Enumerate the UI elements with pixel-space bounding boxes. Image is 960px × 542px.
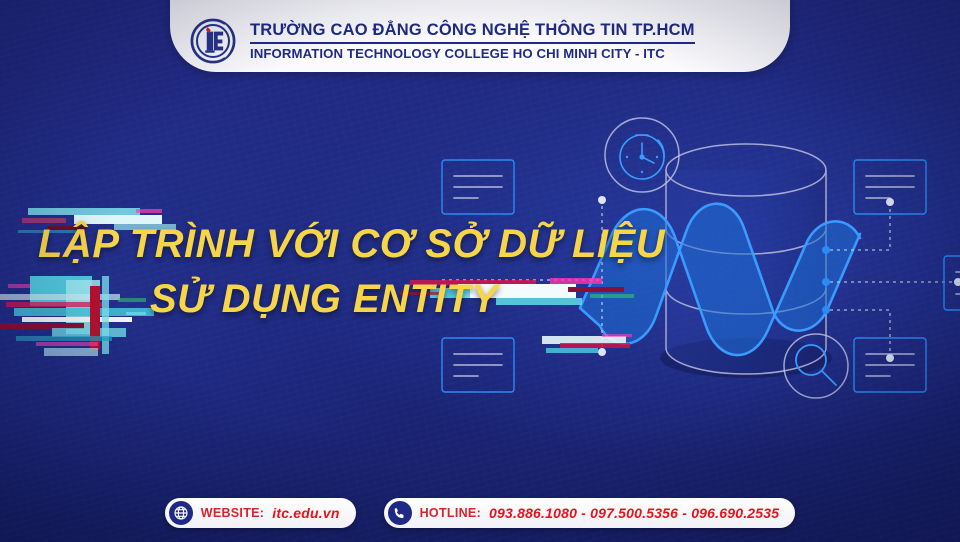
- header-title-vi: TRƯỜNG CAO ĐẲNG CÔNG NGHỆ THÔNG TIN TP.H…: [250, 21, 695, 40]
- document-card: [442, 160, 514, 214]
- title-line-2: SỬ DỤNG ENTITY: [0, 277, 700, 322]
- contact-footer: WEBSITE: itc.edu.vn HOTLINE: 093.886.108…: [0, 498, 960, 528]
- institution-header: TRƯỜNG CAO ĐẲNG CÔNG NGHỆ THÔNG TIN TP.H…: [170, 0, 790, 72]
- header-divider: [250, 42, 695, 44]
- phone-icon: [388, 501, 412, 525]
- slide-canvas: LẬP TRÌNH VỚI CƠ SỞ DỮ LIỆU SỬ DỤNG ENTI…: [0, 0, 960, 542]
- document-card: [854, 338, 926, 392]
- hotline-value: 093.886.1080 - 097.500.5356 - 096.690.25…: [489, 505, 779, 521]
- document-card: [944, 256, 960, 310]
- website-value: itc.edu.vn: [272, 505, 339, 521]
- website-label: WEBSITE:: [201, 506, 265, 520]
- header-title-en: INFORMATION TECHNOLOGY COLLEGE HO CHI MI…: [250, 46, 695, 61]
- website-pill[interactable]: WEBSITE: itc.edu.vn: [165, 498, 356, 528]
- itc-book-circle-logo: [188, 16, 238, 66]
- stopwatch-icon: [605, 118, 679, 192]
- main-title: LẬP TRÌNH VỚI CƠ SỞ DỮ LIỆU SỬ DỤNG ENTI…: [0, 222, 700, 322]
- title-line-1: LẬP TRÌNH VỚI CƠ SỞ DỮ LIỆU: [0, 222, 700, 267]
- globe-icon: [169, 501, 193, 525]
- hotline-pill[interactable]: HOTLINE: 093.886.1080 - 097.500.5356 - 0…: [384, 498, 796, 528]
- document-card: [442, 338, 514, 392]
- hotline-label: HOTLINE:: [420, 506, 481, 520]
